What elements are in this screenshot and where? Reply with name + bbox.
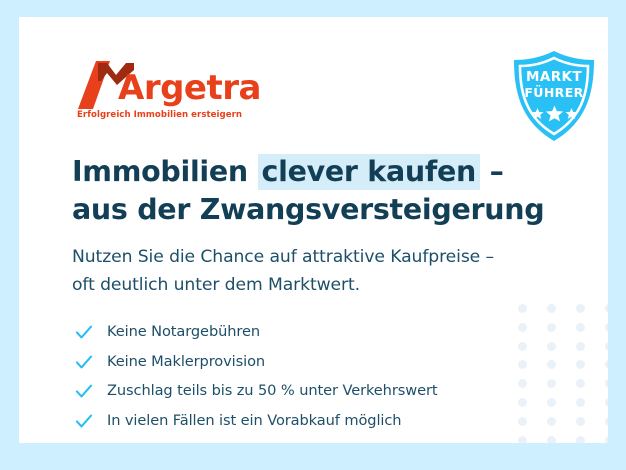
dot-grid-row: [518, 360, 608, 369]
dot: [547, 360, 556, 369]
dot: [605, 360, 608, 369]
headline-highlight: clever kaufen: [258, 154, 480, 190]
dot: [576, 398, 585, 407]
headline-suffix: –: [480, 155, 504, 188]
list-item-label: Zuschlag teils bis zu 50 % unter Verkehr…: [107, 382, 437, 400]
check-icon: [74, 381, 94, 401]
check-icon: [74, 352, 94, 372]
argetra-logo[interactable]: Argetra Erfolgreich Immobilien ersteiger…: [76, 61, 266, 129]
subheadline-line-1: Nutzen Sie die Chance auf attraktive Kau…: [72, 243, 552, 271]
list-item: Zuschlag teils bis zu 50 % unter Verkehr…: [74, 376, 504, 406]
dot: [518, 323, 527, 332]
dot: [518, 360, 527, 369]
dot: [547, 398, 556, 407]
dot-grid-row: [518, 417, 608, 426]
benefits-checklist: Keine Notargebühren Keine Maklerprovisio…: [74, 317, 504, 436]
shield-icon: [506, 48, 602, 144]
dot: [547, 417, 556, 426]
list-item-label: Keine Notargebühren: [107, 323, 260, 341]
dot: [576, 304, 585, 313]
dot: [605, 323, 608, 332]
dot: [605, 342, 608, 351]
list-item-label: In vielen Fällen ist ein Vorabkauf mögli…: [107, 412, 401, 430]
headline-prefix: Immobilien: [72, 155, 258, 188]
dot: [576, 436, 585, 443]
dot: [547, 323, 556, 332]
dot: [576, 342, 585, 351]
dot: [518, 417, 527, 426]
check-icon: [74, 411, 94, 431]
dot-grid-row: [518, 304, 608, 313]
dot-grid-decoration: [518, 304, 608, 443]
dot-grid-row: [518, 379, 608, 388]
dot: [547, 342, 556, 351]
dot: [518, 342, 527, 351]
dot-grid-row: [518, 398, 608, 407]
list-item-label: Keine Maklerprovision: [107, 353, 265, 371]
dot-grid-row: [518, 323, 608, 332]
promo-banner: Argetra Erfolgreich Immobilien ersteiger…: [0, 0, 626, 470]
dot: [605, 436, 608, 443]
dot-grid-row: [518, 342, 608, 351]
subheadline: Nutzen Sie die Chance auf attraktive Kau…: [72, 243, 552, 299]
list-item: Keine Notargebühren: [74, 317, 504, 347]
promo-card: Argetra Erfolgreich Immobilien ersteiger…: [19, 17, 608, 443]
argetra-wordmark: Argetra: [118, 68, 261, 108]
dot: [518, 304, 527, 313]
dot-grid-row: [518, 436, 608, 443]
marktfuehrer-badge: MARKT FÜHRER: [506, 48, 602, 144]
dot: [576, 323, 585, 332]
dot: [576, 360, 585, 369]
dot: [605, 398, 608, 407]
argetra-tagline: Erfolgreich Immobilien ersteigern: [77, 110, 242, 120]
dot: [518, 379, 527, 388]
dot: [605, 304, 608, 313]
dot: [547, 379, 556, 388]
headline: Immobilien clever kaufen – aus der Zwang…: [72, 153, 542, 229]
headline-line-1: Immobilien clever kaufen –: [72, 153, 542, 191]
dot: [605, 417, 608, 426]
dot: [576, 417, 585, 426]
check-icon: [74, 322, 94, 342]
list-item: Keine Maklerprovision: [74, 347, 504, 377]
dot: [547, 436, 556, 443]
dot: [576, 379, 585, 388]
headline-line-2: aus der Zwangsversteigerung: [72, 191, 542, 229]
dot: [605, 379, 608, 388]
dot: [547, 304, 556, 313]
list-item: In vielen Fällen ist ein Vorabkauf mögli…: [74, 406, 504, 436]
dot: [518, 436, 527, 443]
dot: [518, 398, 527, 407]
subheadline-line-2: oft deutlich unter dem Marktwert.: [72, 271, 552, 299]
